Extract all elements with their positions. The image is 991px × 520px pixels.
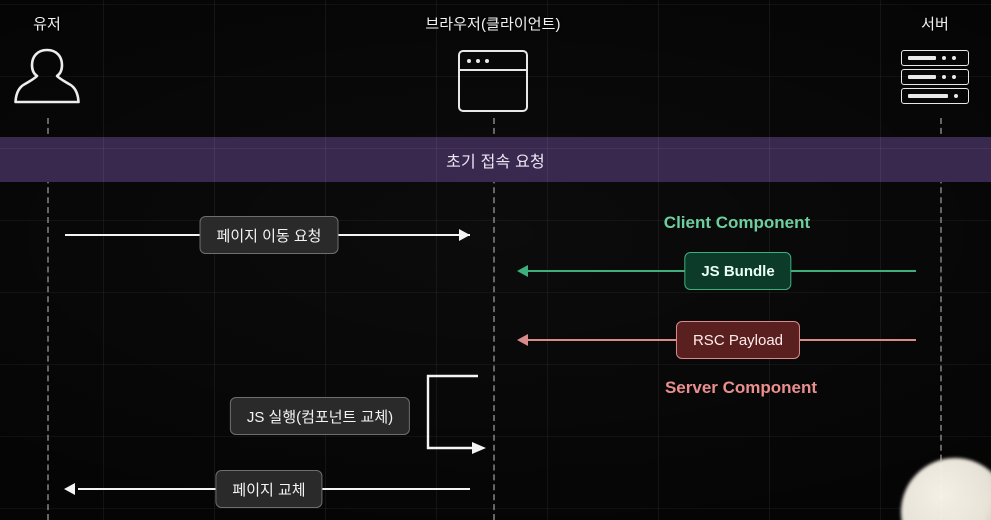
phase-banner: 초기 접속 요청	[0, 137, 991, 182]
phase-banner-label: 초기 접속 요청	[446, 148, 545, 172]
arrow-head-js-bundle	[517, 265, 528, 277]
actor-label-server: 서버	[921, 13, 949, 34]
message-box-js-execution: JS 실행(컴포넌트 교체)	[230, 397, 410, 435]
browser-window-icon	[458, 50, 528, 112]
actor-label-user: 유저	[33, 13, 61, 34]
message-box-rsc-payload: RSC Payload	[676, 321, 800, 359]
arrow-head-rsc-payload	[517, 334, 528, 346]
message-box-page-swap: 페이지 교체	[215, 470, 322, 508]
browser-dot-3	[485, 59, 489, 63]
server-unit-2	[901, 69, 969, 85]
user-silhouette-icon	[14, 46, 80, 113]
server-unit-1	[901, 50, 969, 66]
annotation-client-component: Client Component	[664, 213, 810, 233]
annotation-server-component: Server Component	[665, 378, 817, 398]
arrow-head-page-nav-request	[459, 229, 470, 241]
foreground-blurred-object	[901, 458, 991, 520]
actor-label-browser: 브라우저(클라이언트)	[425, 13, 560, 34]
arrow-head-page-swap	[64, 483, 75, 495]
server-rack-icon	[901, 50, 969, 104]
self-loop-js-execution	[420, 360, 510, 465]
sequence-diagram-canvas: 유저 브라우저(클라이언트) 서버	[0, 0, 991, 520]
message-box-js-bundle: JS Bundle	[684, 252, 791, 290]
browser-dot-2	[476, 59, 480, 63]
message-box-page-nav-request: 페이지 이동 요청	[200, 216, 339, 254]
browser-dot-1	[467, 59, 471, 63]
server-unit-3	[901, 88, 969, 104]
